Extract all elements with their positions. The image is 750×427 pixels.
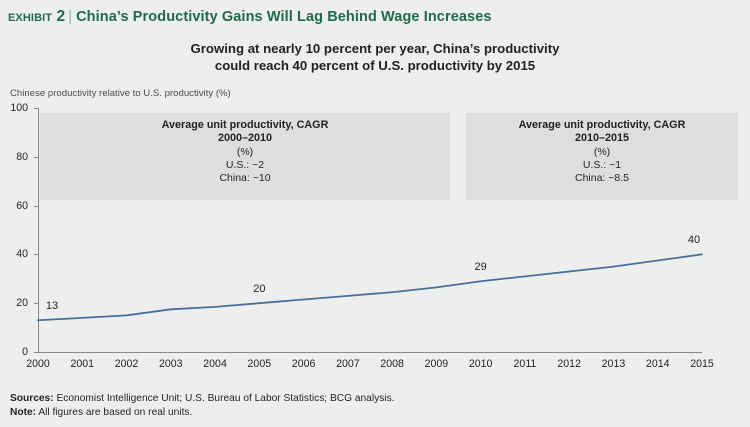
footnotes: Sources: Economist Intelligence Unit; U.… <box>10 392 395 420</box>
chart-subtitle-line-1: Growing at nearly 10 percent per year, C… <box>0 40 750 57</box>
productivity-line-series <box>0 100 750 360</box>
chart-subtitle-line-2: could reach 40 percent of U.S. productiv… <box>0 57 750 74</box>
series-polyline <box>38 254 702 320</box>
data-label-2010: 29 <box>475 261 487 273</box>
note-line: Note: All figures are based on real unit… <box>10 406 395 420</box>
exhibit-header: Exhibit 2|China’s Productivity Gains Wil… <box>8 8 492 26</box>
data-label-2005: 20 <box>253 283 265 295</box>
exhibit-divider: | <box>68 9 72 25</box>
exhibit-title: China’s Productivity Gains Will Lag Behi… <box>76 9 491 25</box>
y-axis-caption: Chinese productivity relative to U.S. pr… <box>10 88 231 99</box>
sources-line: Sources: Economist Intelligence Unit; U.… <box>10 392 395 406</box>
note-text: All figures are based on real units. <box>38 407 192 418</box>
chart-subtitle: Growing at nearly 10 percent per year, C… <box>0 40 750 74</box>
sources-label: Sources: <box>10 393 54 404</box>
data-label-2000: 13 <box>46 300 58 312</box>
data-label-2015: 40 <box>688 234 700 246</box>
chart-canvas: 020406080100 200020012002200320042005200… <box>0 100 750 360</box>
note-label: Note: <box>10 407 36 418</box>
exhibit-number: Exhibit 2 <box>8 8 65 25</box>
sources-text: Economist Intelligence Unit; U.S. Bureau… <box>56 393 394 404</box>
